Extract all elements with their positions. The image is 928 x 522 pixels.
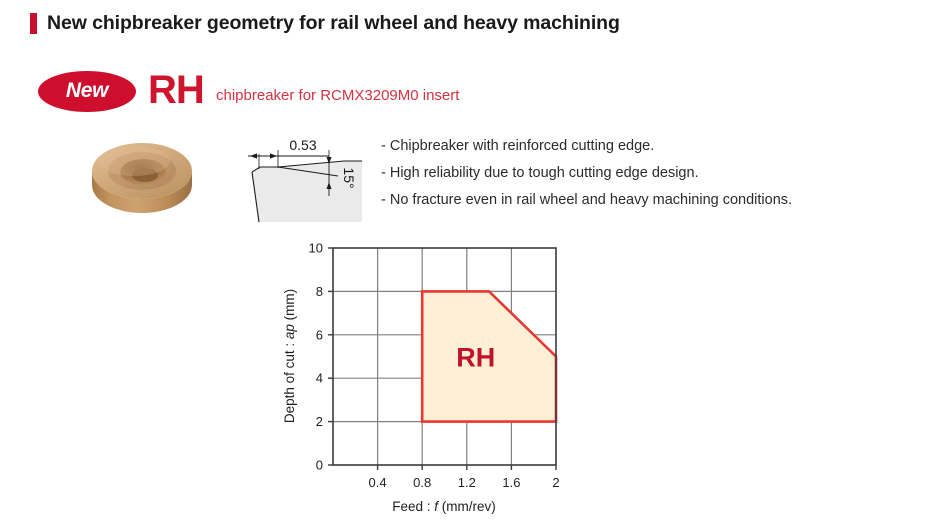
product-description: chipbreaker for RCMX3209M0 insert bbox=[216, 84, 459, 108]
series-label-rh: RH bbox=[456, 342, 495, 372]
header-marker-icon bbox=[30, 13, 37, 34]
new-badge: New bbox=[38, 71, 136, 112]
y-tick-label: 10 bbox=[309, 241, 323, 256]
product-banner: New RH chipbreaker for RCMX3209M0 insert bbox=[0, 68, 928, 116]
page-header: New chipbreaker geometry for rail wheel … bbox=[0, 0, 928, 46]
product-code: RH bbox=[148, 66, 204, 114]
x-tick-label: 2 bbox=[552, 475, 559, 490]
x-tick-label: 0.4 bbox=[369, 475, 387, 490]
width-dimension-label: 0.53 bbox=[289, 137, 316, 153]
feature-item: - No fracture even in rail wheel and hea… bbox=[381, 187, 926, 214]
chart-y-tick-labels: 0246810 bbox=[309, 241, 323, 473]
cross-section-drawing: 0.53 15° bbox=[226, 134, 362, 222]
x-tick-label: 1.6 bbox=[502, 475, 520, 490]
x-tick-label: 0.8 bbox=[413, 475, 431, 490]
chart-x-tick-labels: 0.40.81.21.62 bbox=[369, 475, 560, 490]
angle-dimension-label: 15° bbox=[341, 167, 357, 188]
chart-y-axis-title: Depth of cut : ap (mm) bbox=[282, 289, 297, 423]
feature-item: - High reliability due to tough cutting … bbox=[381, 160, 926, 187]
x-tick-label: 1.2 bbox=[458, 475, 476, 490]
insert-photo bbox=[86, 127, 198, 229]
new-badge-label: New bbox=[66, 79, 108, 103]
feature-list: - Chipbreaker with reinforced cutting ed… bbox=[381, 133, 926, 214]
y-tick-label: 6 bbox=[316, 327, 323, 342]
page-title: New chipbreaker geometry for rail wheel … bbox=[47, 12, 620, 35]
feature-item: - Chipbreaker with reinforced cutting ed… bbox=[381, 133, 926, 160]
y-tick-label: 4 bbox=[316, 371, 323, 386]
y-tick-label: 0 bbox=[316, 458, 323, 473]
y-tick-label: 2 bbox=[316, 414, 323, 429]
chart-x-axis-title: Feed : f (mm/rev) bbox=[392, 499, 496, 514]
y-tick-label: 8 bbox=[316, 284, 323, 299]
application-range-chart: 0.40.81.21.62 0246810 RH Feed : f (mm/re… bbox=[278, 236, 578, 520]
